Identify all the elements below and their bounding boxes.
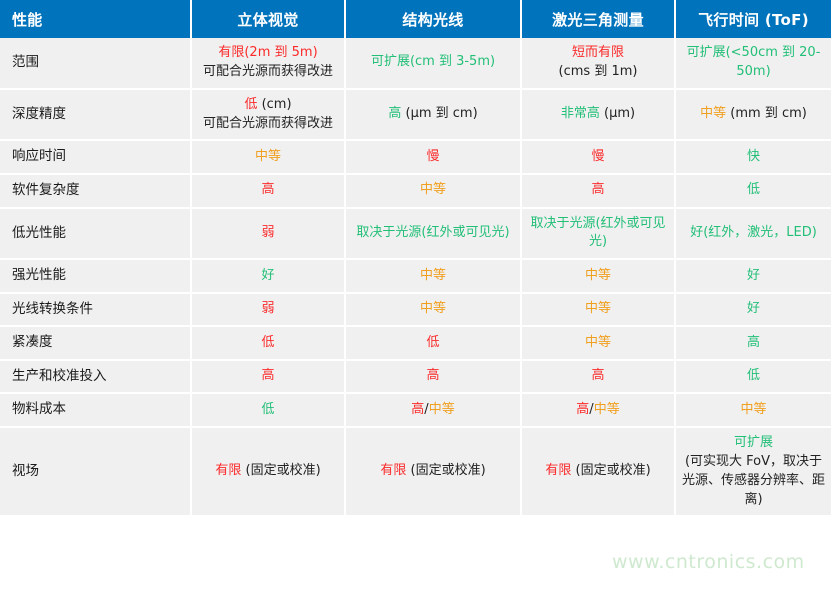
table-cell: 可扩展(可实现大 FoV，取决于光源、传感器分辨率、距离) [675, 427, 831, 515]
cell-line: 弱 [198, 224, 338, 243]
cell-line: 有限 (固定或校准) [198, 462, 338, 481]
cell-value-segment: 中等 [740, 402, 766, 417]
table-cell: 中等 [521, 259, 675, 293]
cell-value-segment: 高 [261, 368, 274, 383]
site-watermark: www.cntronics.com [612, 551, 805, 573]
cell-value-segment: (mm 到 cm) [726, 106, 807, 121]
cell-value-segment: 取决于光源(红外或可见光) [356, 225, 509, 240]
cell-line: 高/中等 [528, 401, 668, 420]
column-header-performance: 性能 [0, 0, 191, 38]
table-cell: 弱 [191, 293, 345, 327]
cell-value-segment: (可实现大 FoV，取决于光源、传感器分辨率、距离) [682, 454, 825, 507]
table-header: 性能 立体视觉 结构光线 激光三角测量 飞行时间 (ToF) [0, 0, 831, 38]
table-cell: 低 [675, 174, 831, 208]
cell-line: 慢 [528, 148, 668, 167]
table-row: 深度精度低 (cm)可配合光源而获得改进高 (µm 到 cm)非常高 (µm)中… [0, 89, 831, 141]
row-label: 物料成本 [0, 393, 191, 427]
cell-value-segment: 低 [244, 97, 257, 112]
cell-value-segment: (固定或校准) [571, 463, 650, 478]
cell-value-segment: 中等 [585, 301, 611, 316]
cell-value-segment: 高 [388, 106, 401, 121]
cell-line: 低 [682, 181, 825, 200]
cell-line: 可扩展 [682, 434, 825, 453]
cell-line: 可配合光源而获得改进 [198, 115, 338, 134]
cell-value-segment: 可配合光源而获得改进 [203, 64, 333, 79]
cell-line: 低 [352, 334, 514, 353]
cell-value-segment: 弱 [261, 225, 274, 240]
depth-sensing-comparison-table: 性能 立体视觉 结构光线 激光三角测量 飞行时间 (ToF) 范围有限(2m 到… [0, 0, 831, 515]
cell-value-segment: 有限 [545, 463, 571, 478]
cell-value-segment: 好 [261, 268, 274, 283]
cell-value-segment: 可配合光源而获得改进 [203, 116, 333, 131]
cell-value-segment: 中等 [420, 182, 446, 197]
cell-line: 中等 [528, 334, 668, 353]
cell-line: (可实现大 FoV，取决于光源、传感器分辨率、距离) [682, 453, 825, 510]
cell-line: 好 [198, 267, 338, 286]
cell-line: 好(红外，激光，LED) [682, 224, 825, 243]
table-cell: 可扩展(cm 到 3-5m) [345, 38, 521, 89]
table-cell: 高/中等 [521, 393, 675, 427]
cell-value-segment: 低 [426, 335, 439, 350]
table-cell: 取决于光源(红外或可见光) [345, 208, 521, 260]
cell-line: 高 [352, 367, 514, 386]
table-cell: 高 (µm 到 cm) [345, 89, 521, 141]
table-row: 视场有限 (固定或校准)有限 (固定或校准)有限 (固定或校准)可扩展(可实现大… [0, 427, 831, 515]
table-cell: 好 [191, 259, 345, 293]
row-label: 光线转换条件 [0, 293, 191, 327]
column-header-structured-light: 结构光线 [345, 0, 521, 38]
table-cell: 弱 [191, 208, 345, 260]
table-cell: 慢 [521, 140, 675, 174]
column-header-laser-triangulation: 激光三角测量 [521, 0, 675, 38]
table-cell: 好 [675, 259, 831, 293]
cell-value-segment: 取决于光源(红外或可见光) [530, 216, 665, 250]
cell-value-segment: 高 [426, 368, 439, 383]
table-cell: 中等 [521, 326, 675, 360]
cell-line: 低 [198, 334, 338, 353]
table-cell: 中等 [345, 259, 521, 293]
cell-value-segment: 中等 [700, 106, 726, 121]
cell-value-segment: 可扩展(cm 到 3-5m) [371, 54, 495, 69]
cell-line: 可扩展(cm 到 3-5m) [352, 53, 514, 72]
cell-line: 好 [682, 267, 825, 286]
table-cell: 中等 [521, 293, 675, 327]
cell-line: 取决于光源(红外或可见光) [528, 215, 668, 253]
table-cell: 高 [345, 360, 521, 394]
cell-value-segment: 高 [261, 182, 274, 197]
cell-value-segment: 高 [591, 182, 604, 197]
table-cell: 短而有限(cms 到 1m) [521, 38, 675, 89]
table-cell: 低 [191, 326, 345, 360]
cell-line: 高 [198, 367, 338, 386]
cell-value-segment: 高 [591, 368, 604, 383]
row-label: 紧凑度 [0, 326, 191, 360]
header-row: 性能 立体视觉 结构光线 激光三角测量 飞行时间 (ToF) [0, 0, 831, 38]
row-label: 深度精度 [0, 89, 191, 141]
table-cell: 中等 [675, 393, 831, 427]
table-cell: 好(红外，激光，LED) [675, 208, 831, 260]
row-label: 强光性能 [0, 259, 191, 293]
cell-value-segment: (固定或校准) [406, 463, 485, 478]
cell-line: 取决于光源(红外或可见光) [352, 224, 514, 243]
cell-value-segment: 中等 [585, 335, 611, 350]
cell-line: 慢 [352, 148, 514, 167]
cell-value-segment: 高 [747, 335, 760, 350]
table-cell: 高 [675, 326, 831, 360]
cell-line: 中等 [352, 300, 514, 319]
table-cell: 中等 [345, 293, 521, 327]
table-cell: 低 (cm)可配合光源而获得改进 [191, 89, 345, 141]
cell-line: 有限 (固定或校准) [528, 462, 668, 481]
table-cell: 非常高 (µm) [521, 89, 675, 141]
cell-value-segment: 可扩展 [734, 435, 773, 450]
cell-line: (cms 到 1m) [528, 63, 668, 82]
cell-line: 有限(2m 到 5m) [198, 44, 338, 63]
column-header-time-of-flight: 飞行时间 (ToF) [675, 0, 831, 38]
cell-line: 高 [682, 334, 825, 353]
cell-value-segment: 中等 [420, 301, 446, 316]
cell-line: 中等 [352, 181, 514, 200]
cell-value-segment: 中等 [594, 402, 620, 417]
table-row: 物料成本低高/中等高/中等中等 [0, 393, 831, 427]
cell-value-segment: 中等 [420, 268, 446, 283]
cell-value-segment: 短而有限 [572, 45, 624, 60]
cell-value-segment: 好 [747, 301, 760, 316]
cell-line: 可配合光源而获得改进 [198, 63, 338, 82]
cell-line: 低 [682, 367, 825, 386]
table-row: 低光性能弱取决于光源(红外或可见光)取决于光源(红外或可见光)好(红外，激光，L… [0, 208, 831, 260]
cell-value-segment: 弱 [261, 301, 274, 316]
cell-value-segment: 可扩展(<50cm 到 20-50m) [687, 45, 821, 79]
cell-value-segment: (cms 到 1m) [559, 64, 638, 79]
row-label: 范围 [0, 38, 191, 89]
table-row: 紧凑度低低中等高 [0, 326, 831, 360]
table-cell: 中等 [345, 174, 521, 208]
cell-line: 高 [528, 181, 668, 200]
cell-value-segment: (µm 到 cm) [401, 106, 477, 121]
row-label: 响应时间 [0, 140, 191, 174]
cell-value-segment: 慢 [426, 149, 439, 164]
table-row: 响应时间中等慢慢快 [0, 140, 831, 174]
table-row: 软件复杂度高中等高低 [0, 174, 831, 208]
row-label: 低光性能 [0, 208, 191, 260]
cell-line: 弱 [198, 300, 338, 319]
table-cell: 高 [191, 174, 345, 208]
cell-value-segment: (µm) [600, 106, 635, 121]
cell-line: 非常高 (µm) [528, 105, 668, 124]
table-row: 强光性能好中等中等好 [0, 259, 831, 293]
row-label: 生产和校准投入 [0, 360, 191, 394]
cell-line: 中等 [528, 267, 668, 286]
cell-value-segment: 有限 [215, 463, 241, 478]
table-cell: 低 [675, 360, 831, 394]
cell-value-segment: 慢 [591, 149, 604, 164]
cell-value-segment: 高 [411, 402, 424, 417]
cell-line: 高 (µm 到 cm) [352, 105, 514, 124]
row-label: 软件复杂度 [0, 174, 191, 208]
cell-line: 高 [528, 367, 668, 386]
table-row: 范围有限(2m 到 5m)可配合光源而获得改进可扩展(cm 到 3-5m)短而有… [0, 38, 831, 89]
table-cell: 高 [191, 360, 345, 394]
cell-value-segment: 快 [747, 149, 760, 164]
table-row: 光线转换条件弱中等中等好 [0, 293, 831, 327]
table-cell: 有限 (固定或校准) [345, 427, 521, 515]
table-cell: 好 [675, 293, 831, 327]
cell-line: 短而有限 [528, 44, 668, 63]
table-cell: 快 [675, 140, 831, 174]
row-label: 视场 [0, 427, 191, 515]
table-cell: 低 [191, 393, 345, 427]
cell-value-segment: 中等 [585, 268, 611, 283]
table-cell: 取决于光源(红外或可见光) [521, 208, 675, 260]
cell-value-segment: 低 [747, 182, 760, 197]
cell-value-segment: 中等 [429, 402, 455, 417]
cell-line: 中等 [352, 267, 514, 286]
table-cell: 慢 [345, 140, 521, 174]
cell-line: 低 (cm) [198, 96, 338, 115]
table-cell: 高 [521, 174, 675, 208]
cell-line: 中等 [198, 148, 338, 167]
cell-value-segment: 好(红外，激光，LED) [690, 225, 817, 240]
cell-value-segment: 低 [261, 335, 274, 350]
cell-line: 中等 [682, 401, 825, 420]
cell-value-segment: 低 [747, 368, 760, 383]
cell-value-segment: 低 [261, 402, 274, 417]
cell-line: 中等 (mm 到 cm) [682, 105, 825, 124]
cell-line: 有限 (固定或校准) [352, 462, 514, 481]
cell-value-segment: (固定或校准) [241, 463, 320, 478]
cell-value-segment: 中等 [255, 149, 281, 164]
cell-line: 快 [682, 148, 825, 167]
cell-line: 低 [198, 401, 338, 420]
table-cell: 有限(2m 到 5m)可配合光源而获得改进 [191, 38, 345, 89]
table-cell: 低 [345, 326, 521, 360]
cell-line: 中等 [528, 300, 668, 319]
table-cell: 可扩展(<50cm 到 20-50m) [675, 38, 831, 89]
cell-value-segment: 有限 [380, 463, 406, 478]
table-cell: 有限 (固定或校准) [521, 427, 675, 515]
cell-value-segment: 有限(2m 到 5m) [218, 45, 317, 60]
table-cell: 中等 (mm 到 cm) [675, 89, 831, 141]
column-header-stereo-vision: 立体视觉 [191, 0, 345, 38]
cell-line: 高 [198, 181, 338, 200]
cell-line: 好 [682, 300, 825, 319]
table-cell: 高 [521, 360, 675, 394]
table-row: 生产和校准投入高高高低 [0, 360, 831, 394]
table-cell: 有限 (固定或校准) [191, 427, 345, 515]
cell-line: 可扩展(<50cm 到 20-50m) [682, 44, 825, 82]
cell-value-segment: 非常高 [561, 106, 600, 121]
cell-value-segment: 好 [747, 268, 760, 283]
table-cell: 中等 [191, 140, 345, 174]
cell-value-segment: (cm) [257, 97, 291, 112]
table-cell: 高/中等 [345, 393, 521, 427]
cell-value-segment: 高 [576, 402, 589, 417]
cell-line: 高/中等 [352, 401, 514, 420]
table-body: 范围有限(2m 到 5m)可配合光源而获得改进可扩展(cm 到 3-5m)短而有… [0, 38, 831, 515]
